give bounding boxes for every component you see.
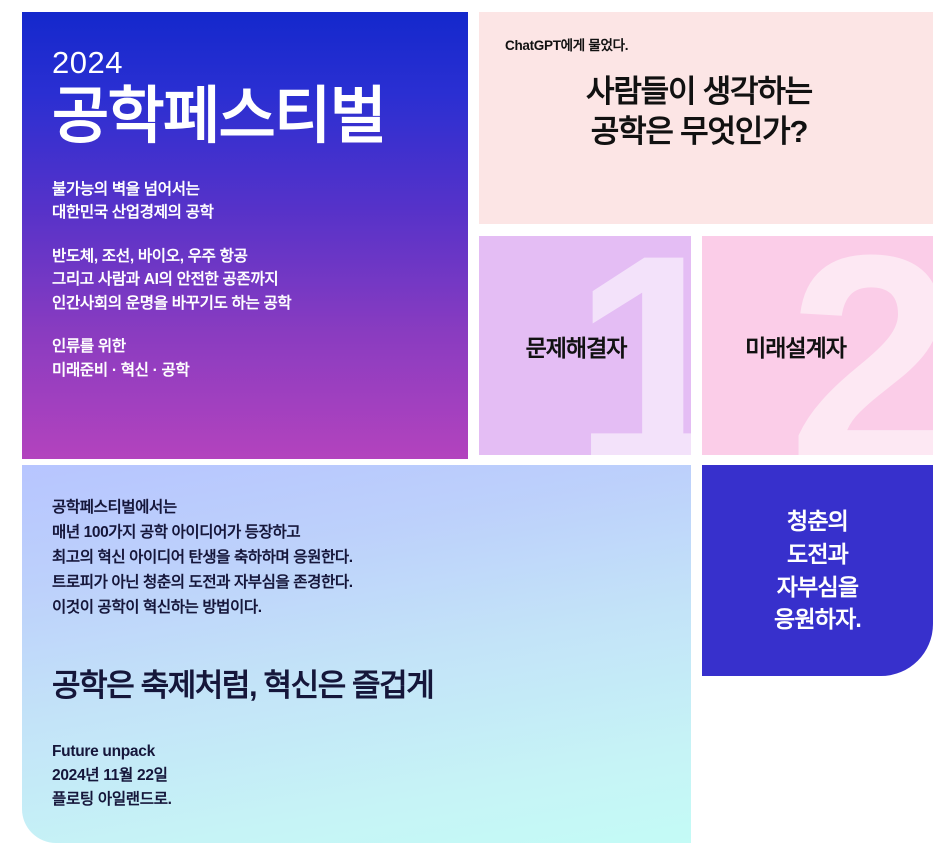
question-headline: 사람들이 생각하는 공학은 무엇인가? xyxy=(505,72,907,153)
festival-panel: 공학페스티벌에서는 매년 100가지 공학 아이디어가 등장하고 최고의 혁신 … xyxy=(22,465,691,843)
hero-year: 2024 xyxy=(52,46,438,80)
cheer-line: 청춘의 xyxy=(774,505,861,538)
festival-intro-line: 이것이 공학이 혁신하는 방법이다. xyxy=(52,595,661,620)
hero-body: 불가능의 벽을 넘어서는 대한민국 산업경제의 공학 반도체, 조선, 바이오,… xyxy=(52,178,438,383)
role-card-future-designer: 2 미래설계자 xyxy=(702,236,933,455)
festival-intro: 공학페스티벌에서는 매년 100가지 공학 아이디어가 등장하고 최고의 혁신 … xyxy=(52,495,661,621)
hero-paragraph-3: 인류를 위한 미래준비 · 혁신 · 공학 xyxy=(52,335,438,382)
festival-intro-line: 최고의 혁신 아이디어 탄생을 축하하며 응원한다. xyxy=(52,545,661,570)
hero-line: 대한민국 산업경제의 공학 xyxy=(52,201,438,225)
hero-line: 미래준비 · 혁신 · 공학 xyxy=(52,359,438,383)
hero-line: 그리고 사람과 AI의 안전한 공존까지 xyxy=(52,268,438,292)
question-headline-line: 사람들이 생각하는 xyxy=(505,72,893,112)
question-headline-line: 공학은 무엇인가? xyxy=(505,112,893,152)
hero-paragraph-1: 불가능의 벽을 넘어서는 대한민국 산업경제의 공학 xyxy=(52,178,438,225)
festival-intro-line: 공학페스티벌에서는 xyxy=(52,495,661,520)
cheer-line: 자부심을 xyxy=(774,571,861,604)
role-card-label: 문제해결자 xyxy=(479,329,691,363)
hero-line: 인간사회의 운명을 바꾸기도 하는 공학 xyxy=(52,292,438,316)
question-kicker: ChatGPT에게 물었다. xyxy=(505,34,907,54)
role-card-problem-solver: 1 문제해결자 xyxy=(479,236,691,455)
hero-panel: 2024 공학페스티벌 불가능의 벽을 넘어서는 대한민국 산업경제의 공학 반… xyxy=(22,12,468,459)
role-card-label: 미래설계자 xyxy=(702,329,933,363)
festival-footer-line: Future unpack xyxy=(52,740,661,764)
festival-footer-line: 플로팅 아일랜드로. xyxy=(52,788,661,812)
hero-line: 반도체, 조선, 바이오, 우주 항공 xyxy=(52,245,438,269)
festival-intro-line: 매년 100가지 공학 아이디어가 등장하고 xyxy=(52,520,661,545)
hero-line: 불가능의 벽을 넘어서는 xyxy=(52,178,438,202)
hero-line: 인류를 위한 xyxy=(52,335,438,359)
cheer-line: 도전과 xyxy=(774,538,861,571)
festival-headline: 공학은 축제처럼, 혁신은 즐겁게 xyxy=(52,667,661,704)
festival-intro-line: 트로피가 아닌 청춘의 도전과 자부심을 존경한다. xyxy=(52,570,661,595)
hero-paragraph-2: 반도체, 조선, 바이오, 우주 항공 그리고 사람과 AI의 안전한 공존까지… xyxy=(52,245,438,316)
hero-title: 공학페스티벌 xyxy=(52,82,438,151)
cheer-panel: 청춘의 도전과 자부심을 응원하자. xyxy=(702,465,933,676)
cheer-text: 청춘의 도전과 자부심을 응원하자. xyxy=(774,505,861,636)
festival-footer-line: 2024년 11월 22일 xyxy=(52,764,661,788)
cheer-line: 응원하자. xyxy=(774,603,861,636)
festival-footer: Future unpack 2024년 11월 22일 플로팅 아일랜드로. xyxy=(52,740,661,812)
poster-canvas: 2024 공학페스티벌 불가능의 벽을 넘어서는 대한민국 산업경제의 공학 반… xyxy=(0,0,945,856)
question-panel: ChatGPT에게 물었다. 사람들이 생각하는 공학은 무엇인가? xyxy=(479,12,933,224)
